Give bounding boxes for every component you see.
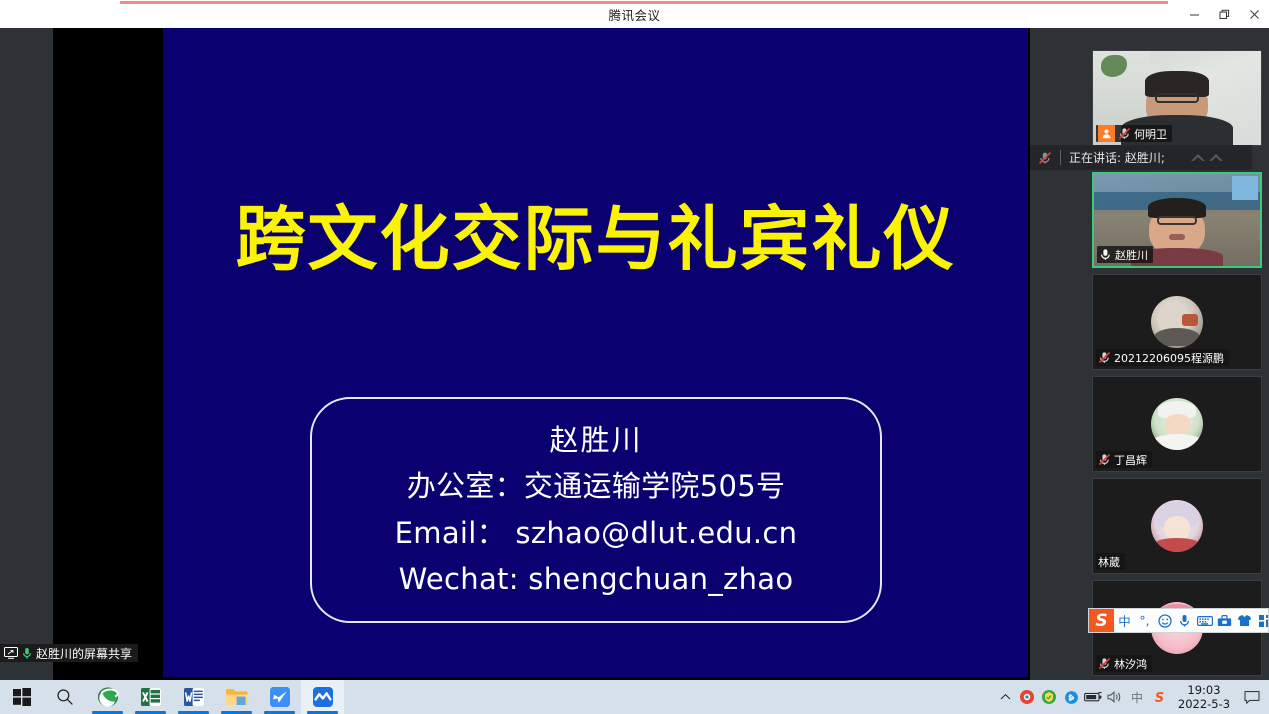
shared-screen-letterbox: 跨文化交际与礼宾礼仪 赵胜川 办公室：交通运输学院505号 Email： szh… bbox=[53, 28, 1030, 680]
participant-badge: 丁昌辉 bbox=[1096, 451, 1152, 468]
taskbar-item-word[interactable] bbox=[172, 680, 215, 714]
toolbox-icon[interactable] bbox=[1215, 608, 1234, 633]
mic-muted-icon bbox=[1098, 453, 1111, 466]
participant-tile[interactable]: 赵胜川 bbox=[1092, 172, 1262, 268]
participant-tile[interactable]: 何明卫 bbox=[1092, 50, 1262, 146]
participant-badge: 林汐鸿 bbox=[1096, 655, 1152, 672]
screen: 腾讯会议 跨文化交际与礼宾礼仪 bbox=[0, 0, 1269, 714]
tray-360-browser-icon[interactable] bbox=[1017, 680, 1037, 714]
ime-mode-chinese[interactable]: 中 bbox=[1115, 608, 1134, 633]
window-controls bbox=[1179, 0, 1269, 28]
office-line: 办公室：交通运输学院505号 bbox=[407, 467, 786, 506]
mic-muted-icon bbox=[1038, 151, 1052, 165]
system-tray: 中 S 19:03 2022-5-3 bbox=[995, 680, 1269, 714]
avatar bbox=[1151, 296, 1203, 348]
taskbar-apps bbox=[0, 680, 344, 714]
taskbar-item-bird-app[interactable] bbox=[258, 680, 301, 714]
taskbar-item-tencent-meeting[interactable] bbox=[301, 680, 344, 714]
clock-time: 19:03 bbox=[1187, 683, 1220, 697]
taskbar-item-file-explorer[interactable] bbox=[215, 680, 258, 714]
window-title: 腾讯会议 bbox=[0, 5, 1269, 24]
wechat-line: Wechat: shengchuan_zhao bbox=[399, 560, 794, 599]
participant-name: 20212206095程源鹏 bbox=[1114, 350, 1224, 366]
windows-taskbar: 中 S 19:03 2022-5-3 bbox=[0, 680, 1269, 714]
tray-sogou-icon[interactable]: S bbox=[1149, 680, 1169, 714]
participant-name: 赵胜川 bbox=[1115, 247, 1148, 263]
titlebar-accent-line bbox=[120, 1, 1168, 4]
ime-punctuation-toggle[interactable]: °, bbox=[1135, 608, 1154, 633]
start-button[interactable] bbox=[0, 680, 43, 714]
meeting-stage: 跨文化交际与礼宾礼仪 赵胜川 办公室：交通运输学院505号 Email： szh… bbox=[0, 28, 1269, 680]
taskbar-clock[interactable]: 19:03 2022-5-3 bbox=[1171, 680, 1237, 714]
svg-text:S: S bbox=[1154, 691, 1163, 705]
participant-badge: 赵胜川 bbox=[1097, 246, 1153, 263]
avatar bbox=[1151, 398, 1203, 450]
mic-muted-icon bbox=[1098, 657, 1111, 670]
mic-muted-icon bbox=[1098, 351, 1111, 364]
tray-bluetooth-icon[interactable] bbox=[1061, 680, 1081, 714]
participant-tile[interactable]: 林葳 bbox=[1092, 478, 1262, 574]
presenter-name: 赵胜川 bbox=[549, 421, 642, 460]
speaking-toast: 正在讲话: 赵胜川; bbox=[1030, 145, 1252, 170]
host-icon bbox=[1098, 125, 1115, 142]
shared-slide: 跨文化交际与礼宾礼仪 赵胜川 办公室：交通运输学院505号 Email： szh… bbox=[163, 28, 1028, 677]
participant-name: 林葳 bbox=[1098, 554, 1120, 570]
email-line: Email： szhao@dlut.edu.cn bbox=[395, 514, 798, 553]
mic-muted-icon bbox=[1118, 127, 1131, 140]
emoji-icon[interactable] bbox=[1155, 608, 1174, 633]
participant-tile[interactable]: 20212206095程源鹏 bbox=[1092, 274, 1262, 370]
minimize-button[interactable] bbox=[1179, 0, 1209, 28]
mic-icon bbox=[1099, 248, 1112, 261]
voice-input-icon[interactable] bbox=[1175, 608, 1194, 633]
search-button[interactable] bbox=[43, 680, 86, 714]
participant-name: 何明卫 bbox=[1134, 126, 1167, 142]
sogou-ime-toolbar[interactable]: S 中 °, bbox=[1088, 608, 1269, 633]
skin-icon[interactable] bbox=[1235, 608, 1254, 633]
participant-name: 林汐鸿 bbox=[1114, 656, 1147, 672]
screen-share-banner: 赵胜川的屏幕共享 bbox=[0, 644, 138, 662]
tray-chevron-up-icon[interactable] bbox=[995, 680, 1015, 714]
speaking-toast-text: 正在讲话: 赵胜川; bbox=[1069, 149, 1165, 166]
apps-grid-icon[interactable] bbox=[1255, 608, 1269, 633]
soft-keyboard-icon[interactable] bbox=[1195, 608, 1214, 633]
tray-battery-icon[interactable] bbox=[1083, 680, 1103, 714]
participant-badge: 何明卫 bbox=[1096, 125, 1172, 142]
taskbar-item-excel[interactable] bbox=[129, 680, 172, 714]
participant-tile[interactable]: 丁昌辉 bbox=[1092, 376, 1262, 472]
participant-badge: 20212206095程源鹏 bbox=[1096, 349, 1229, 366]
participant-badge: 林葳 bbox=[1096, 553, 1125, 570]
participant-rail[interactable]: 何明卫 正在讲话: 赵胜川; bbox=[1085, 28, 1269, 680]
mic-icon bbox=[22, 647, 32, 660]
toast-divider bbox=[1060, 150, 1061, 165]
window-titlebar: 腾讯会议 bbox=[0, 0, 1269, 28]
tray-volume-icon[interactable] bbox=[1105, 680, 1125, 714]
slide-info-box: 赵胜川 办公室：交通运输学院505号 Email： szhao@dlut.edu… bbox=[310, 397, 882, 623]
avatar bbox=[1151, 500, 1203, 552]
slide-title: 跨文化交际与礼宾礼仪 bbox=[163, 204, 1028, 274]
clock-date: 2022-5-3 bbox=[1178, 697, 1230, 711]
tray-ime-mode-icon[interactable]: 中 bbox=[1127, 680, 1147, 714]
share-banner-label: 赵胜川的屏幕共享 bbox=[36, 645, 132, 662]
sogou-logo-icon[interactable]: S bbox=[1089, 608, 1114, 633]
tray-green-shield-icon[interactable] bbox=[1039, 680, 1059, 714]
taskbar-item-internet-explorer[interactable] bbox=[86, 680, 129, 714]
toast-chevrons bbox=[1190, 151, 1252, 164]
restore-button[interactable] bbox=[1209, 0, 1239, 28]
participant-name: 丁昌辉 bbox=[1114, 452, 1147, 468]
action-center-icon[interactable] bbox=[1239, 680, 1265, 714]
close-button[interactable] bbox=[1239, 0, 1269, 28]
screen-share-icon bbox=[4, 647, 18, 659]
